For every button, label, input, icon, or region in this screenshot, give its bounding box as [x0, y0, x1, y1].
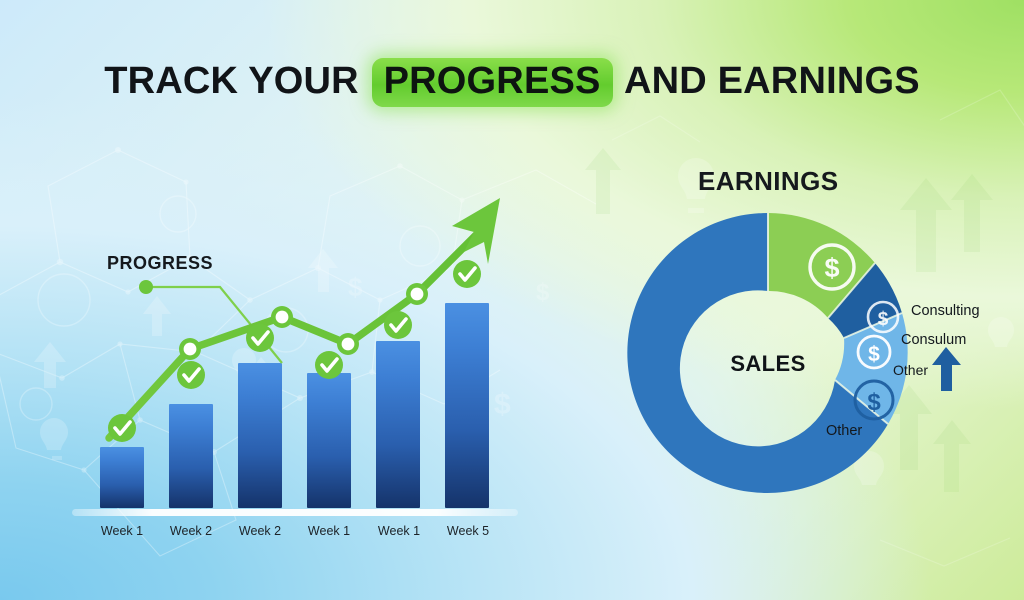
axis-label-0: Week 1	[83, 524, 161, 538]
bar-week-2	[169, 404, 213, 508]
svg-text:$: $	[878, 309, 889, 330]
trend-node	[179, 338, 201, 360]
progress-bar-line-chart	[60, 180, 530, 520]
donut-label-consulting: Consulting	[911, 303, 980, 319]
check-badge-icon	[315, 351, 343, 379]
donut-center-label: SALES	[668, 351, 868, 377]
bar-week-4	[307, 373, 351, 508]
earnings-chart-title: EARNINGS	[698, 166, 838, 197]
check-badge-icon	[177, 361, 205, 389]
page-title-highlight: PROGRESS	[372, 58, 613, 107]
donut-label-other-right: Other	[893, 362, 928, 378]
page-title-after: AND EARNINGS	[624, 60, 920, 102]
arrow-up-icon	[932, 347, 961, 391]
bar-week-1	[100, 447, 144, 508]
page-title: TRACK YOUR PROGRESS AND EARNINGS	[0, 58, 1024, 107]
bar-week-6	[445, 303, 489, 508]
axis-label-3: Week 1	[290, 524, 368, 538]
check-badge-icon	[453, 260, 481, 288]
axis-label-4: Week 1	[360, 524, 438, 538]
svg-text:$: $	[824, 253, 839, 283]
bar-week-3	[238, 363, 282, 508]
bar-series	[100, 303, 489, 508]
bar-chart-axis-labels: Week 1 Week 2 Week 2 Week 1 Week 1 Week …	[60, 524, 530, 548]
trend-node	[271, 306, 293, 328]
check-badge-icon	[108, 414, 136, 442]
progress-trend-line	[109, 227, 484, 438]
svg-text:$: $	[867, 389, 881, 416]
infographic-canvas: $ $ $ $ TRA	[0, 0, 1024, 600]
check-badge-icon	[246, 324, 274, 352]
page-title-before: TRACK YOUR	[104, 60, 359, 102]
bar-week-5	[376, 341, 420, 508]
axis-label-5: Week 5	[429, 524, 507, 538]
donut-label-consulum: Consulum	[901, 332, 966, 348]
axis-label-1: Week 2	[152, 524, 230, 538]
chart-baseline	[72, 509, 518, 516]
check-badge-icon	[384, 311, 412, 339]
svg-text:$: $	[868, 343, 880, 366]
axis-label-2: Week 2	[221, 524, 299, 538]
donut-label-other-lower: Other	[826, 423, 862, 439]
trend-node	[406, 283, 428, 305]
trend-node	[337, 333, 359, 355]
